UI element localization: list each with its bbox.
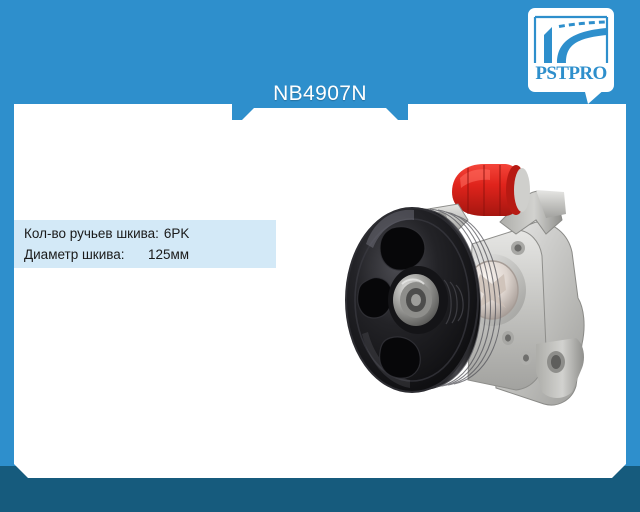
page-title: NB4907N <box>232 78 408 110</box>
red-protective-cap <box>452 164 530 216</box>
spec-label-grooves: Кол-во ручьев шкива: <box>24 226 159 241</box>
spec-info-box: Кол-во ручьев шкива: 6PK Диаметр шкива: … <box>14 220 276 268</box>
screenshot-root: NB4907N PSTPRO Кол-во ручьев шкив <box>0 0 640 512</box>
pulley-face <box>346 208 478 392</box>
pump-illustration <box>340 148 604 416</box>
spec-row-grooves: Кол-во ручьев шкива: 6PK <box>24 223 189 243</box>
brand-logo[interactable]: PSTPRO <box>528 8 614 98</box>
spec-value-grooves: 6PK <box>164 226 190 241</box>
logo-brand-text: PSTPRO <box>533 61 609 87</box>
spec-label-diameter: Диаметр шкива: <box>24 247 148 262</box>
product-image-power-steering-pump <box>340 148 604 416</box>
spec-value-diameter: 125мм <box>148 247 189 262</box>
highway-road-icon <box>533 13 609 65</box>
pulley-hub <box>388 266 448 334</box>
spec-row-diameter: Диаметр шкива: 125мм <box>24 244 189 264</box>
